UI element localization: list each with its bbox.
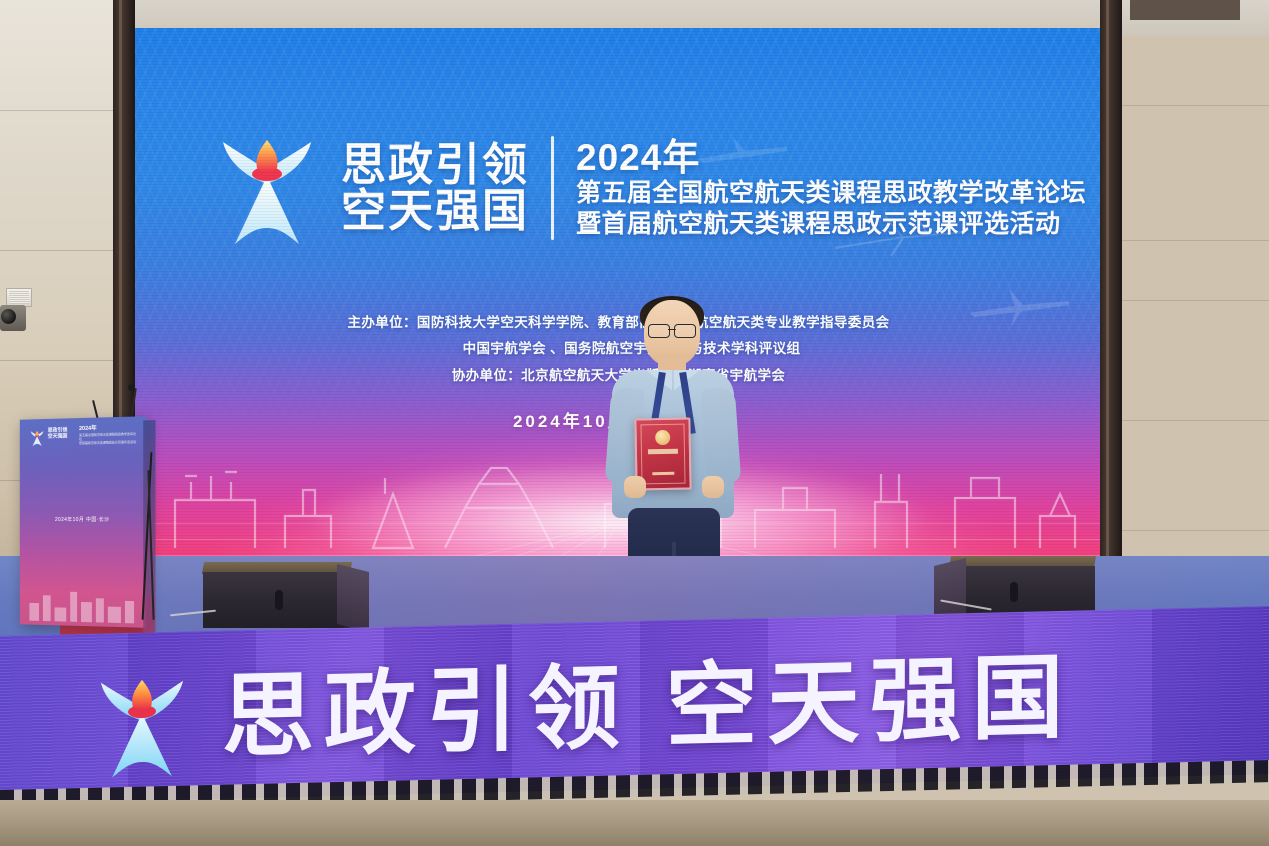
podium: 思政引领 空天强国 2024年 第五届全国航空航天类课程思政教学改革论坛 暨首届… (20, 416, 146, 628)
podium-slogan: 思政引领 空天强国 (48, 427, 68, 440)
glasses-icon (648, 324, 696, 337)
venue-floor (0, 800, 1269, 846)
arm-right (701, 387, 742, 485)
podium-skyline-silhouette (20, 581, 146, 624)
stage-banner-text: 思政引领 空天强国 (222, 623, 1074, 776)
hand-left (624, 476, 646, 498)
wall-camera-icon (0, 305, 26, 331)
microphone-head-icon (128, 384, 135, 391)
banner-emblem-icon (88, 667, 196, 782)
screen-frame-right (1100, 0, 1122, 632)
podium-emblem-icon (29, 429, 44, 447)
conference-stage-photo: 思政引领 空天强国 2024年 第五届全国航空航天类课程思政教学改革论坛 暨首届… (0, 0, 1269, 846)
hand-right (702, 476, 724, 498)
podium-subtitle: 第五届全国航空航天类课程思政教学改革论坛 暨首届航空航天类课程思政示范课评选活动 (79, 433, 137, 446)
wall-right (1117, 0, 1269, 622)
stage-monitor-speaker-left (203, 562, 351, 628)
podium-year: 2024年 (79, 426, 97, 433)
podium-date-place: 2024年10月 中国·长沙 (20, 516, 146, 523)
